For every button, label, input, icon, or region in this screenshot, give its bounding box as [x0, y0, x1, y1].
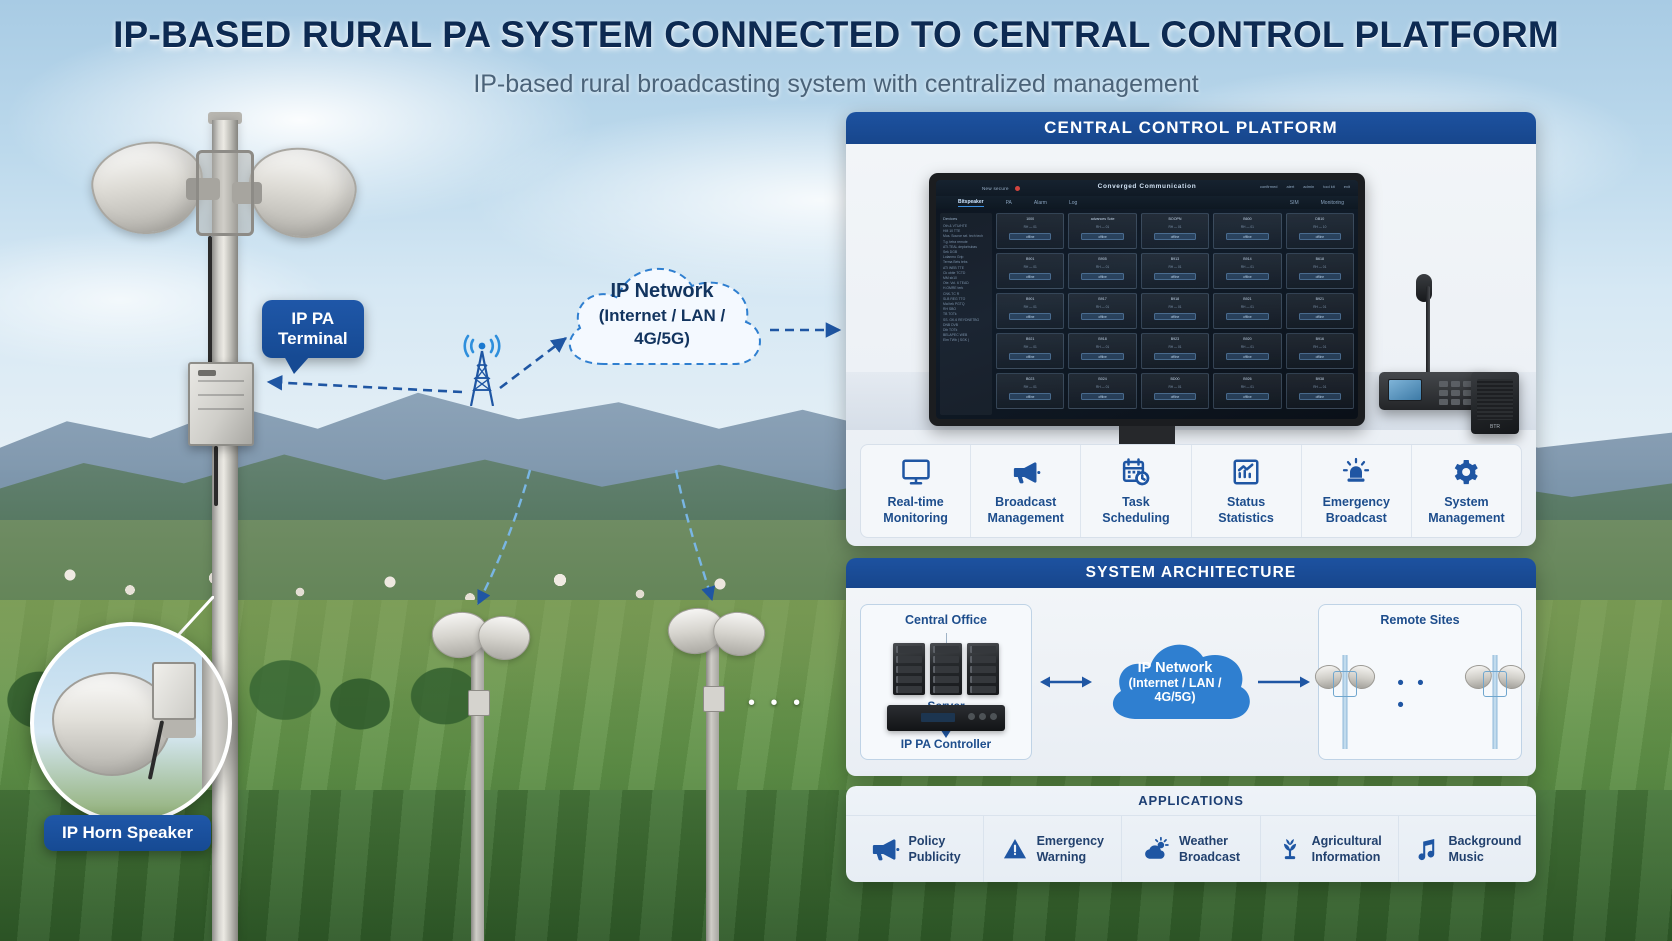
- server-unit-3: [967, 643, 999, 695]
- device-id: B023: [1000, 377, 1060, 381]
- device-offline-button[interactable]: offline: [1009, 273, 1051, 280]
- device-card[interactable]: B921 RH — 01 offline: [1286, 293, 1354, 329]
- warning-icon: [1002, 836, 1028, 862]
- tab-alarm[interactable]: Alarm: [1034, 200, 1047, 206]
- screen-status-4[interactable]: exit: [1344, 184, 1350, 189]
- arrow-cloud-to-remote: [1258, 672, 1310, 692]
- device-grid[interactable]: 1000 RH — 01 offlineadvances Sote RH — 0…: [996, 213, 1354, 415]
- device-id: B905: [1072, 257, 1132, 261]
- application-label: Policy Publicity: [909, 833, 961, 866]
- central-office-title: Central Office: [861, 613, 1031, 627]
- page-title: IP-BASED RURAL PA SYSTEM CONNECTED TO CE…: [0, 14, 1672, 56]
- applications-body: APPLICATIONS Policy Publicity Emergency …: [846, 786, 1536, 882]
- gear-icon: [1451, 455, 1481, 489]
- feature-label: Emergency Broadcast: [1323, 495, 1390, 526]
- device-id: B923: [1145, 337, 1205, 341]
- device-offline-button[interactable]: offline: [1299, 353, 1341, 360]
- device-card[interactable]: B600 RH — 01 offline: [1213, 213, 1281, 249]
- screen-status-0[interactable]: confirmed: [1260, 184, 1278, 189]
- device-id: B918: [1072, 337, 1132, 341]
- server-unit-2: [930, 643, 962, 695]
- device-status: RH — 01: [1072, 225, 1132, 229]
- device-offline-button[interactable]: offline: [1009, 393, 1051, 400]
- device-card[interactable]: B916 RH — 01 offline: [1286, 333, 1354, 369]
- device-status: RH — 01: [1290, 265, 1350, 269]
- device-card[interactable]: B938 RH — 01 offline: [1286, 373, 1354, 409]
- arrow-office-to-cloud: [1040, 672, 1092, 692]
- remote-sites-ellipsis: • • •: [1397, 673, 1443, 717]
- device-status: RH — 01: [1217, 225, 1277, 229]
- server-unit-1: [893, 643, 925, 695]
- application-label: Background Music: [1448, 833, 1521, 866]
- device-card[interactable]: advances Sote RH — 01 offline: [1068, 213, 1136, 249]
- device-id: B917: [1072, 297, 1132, 301]
- remote-site-pole-2: [1469, 641, 1521, 749]
- sa-ip-network-cloud: IP Network (Internet / LAN / 4G/5G): [1100, 627, 1250, 737]
- megaphone-icon: [869, 834, 900, 865]
- tab-sim[interactable]: SIM: [1290, 200, 1299, 206]
- weather-icon: [1142, 835, 1170, 863]
- feature-label: Real-time Monitoring: [883, 495, 948, 526]
- device-list-item[interactable]: Elm TWb ( SGK ): [943, 338, 989, 343]
- screen-topbar: New secure Converged Communication confi…: [936, 180, 1358, 196]
- sidebar-title: Devices: [943, 216, 989, 221]
- device-offline-button[interactable]: offline: [1009, 233, 1051, 240]
- megaphone-icon: [1010, 455, 1041, 489]
- callout-terminal-line1: IP PA: [278, 309, 348, 329]
- device-id: B024: [1072, 377, 1132, 381]
- device-status: RH — 01: [1072, 345, 1132, 349]
- device-status: RH — 01: [1217, 345, 1277, 349]
- platform-feature-strip: Real-time Monitoring Broadcast Managemen…: [860, 444, 1522, 538]
- device-id: BOOPN: [1145, 217, 1205, 221]
- plant-icon: [1277, 836, 1303, 862]
- device-offline-button[interactable]: offline: [1226, 233, 1268, 240]
- device-card[interactable]: B921 RH — 01 offline: [1213, 293, 1281, 329]
- application-emergency[interactable]: Emergency Warning: [984, 816, 1122, 882]
- applications-title: APPLICATIONS: [846, 786, 1536, 816]
- device-status: RH — 01: [1000, 265, 1060, 269]
- application-background[interactable]: Background Music: [1399, 816, 1536, 882]
- application-label: Agricultural Information: [1312, 833, 1382, 866]
- device-card[interactable]: B926 RH — 01 offline: [1213, 373, 1281, 409]
- device-offline-button[interactable]: offline: [1299, 233, 1341, 240]
- sa-body: Central Office Server IP PA Controller: [846, 588, 1536, 776]
- feature-label: Task Scheduling: [1102, 495, 1169, 526]
- device-id: B921: [1217, 297, 1277, 301]
- device-card[interactable]: B905 RH — 01 offline: [1068, 253, 1136, 289]
- device-card[interactable]: B024 RH — 01 offline: [1068, 373, 1136, 409]
- feature-emergency[interactable]: Emergency Broadcast: [1302, 445, 1412, 537]
- device-offline-button[interactable]: offline: [1226, 313, 1268, 320]
- device-status: RH — 01: [1217, 305, 1277, 309]
- screen-status-group: confirmed alert admin tool kit exit: [1260, 184, 1350, 189]
- tab-pa[interactable]: PA: [1006, 200, 1012, 206]
- device-id: B921: [1290, 297, 1350, 301]
- device-offline-button[interactable]: offline: [1299, 273, 1341, 280]
- device-list-item[interactable]: Mus. Source sel. tech tech: [943, 234, 989, 239]
- device-status: RH — 01: [1072, 305, 1132, 309]
- device-card[interactable]: B917 RH — 01 offline: [1068, 293, 1136, 329]
- device-status: RH — 10: [1290, 225, 1350, 229]
- sa-cloud-line-2: (Internet / LAN /: [1128, 676, 1221, 690]
- device-id: BD00: [1145, 377, 1205, 381]
- device-id: B916: [1290, 337, 1350, 341]
- application-weather[interactable]: Weather Broadcast: [1122, 816, 1260, 882]
- remote-sites-group: Remote Sites • • •: [1318, 604, 1522, 760]
- device-id: B913: [1145, 257, 1205, 261]
- remote-horn-2b: [711, 609, 767, 658]
- cabinet-cable-upper: [208, 236, 212, 364]
- cloud-line-1: IP Network: [611, 280, 714, 303]
- device-offline-button[interactable]: offline: [1081, 273, 1123, 280]
- device-offline-button[interactable]: offline: [1299, 393, 1341, 400]
- screen-main: Devices Oth & VTU/HTEHM 10 TTEMus. Sourc…: [936, 209, 1358, 419]
- device-offline-button[interactable]: offline: [1226, 273, 1268, 280]
- device-card[interactable]: B901 RH — 01 offline: [996, 293, 1064, 329]
- device-id: B926: [1217, 377, 1277, 381]
- remote-terminal-2: [703, 686, 725, 712]
- device-status: RH — 01: [1000, 345, 1060, 349]
- device-card[interactable]: BD00 RH — 01 offline: [1141, 373, 1209, 409]
- device-id: B901: [1000, 257, 1060, 261]
- device-id: B914: [1217, 257, 1277, 261]
- device-status: RH — 01: [1145, 385, 1205, 389]
- device-status: RH — 01: [1217, 265, 1277, 269]
- device-status: RH — 01: [1145, 225, 1205, 229]
- callout-terminal-line2: Terminal: [278, 329, 348, 349]
- ccp-body: New secure Converged Communication confi…: [846, 144, 1536, 546]
- ip-pa-controller-unit: [887, 705, 1005, 731]
- feature-label: System Management: [1428, 495, 1504, 526]
- sa-cloud-line-3: 4G/5G): [1155, 690, 1196, 704]
- siren-icon: [1341, 455, 1371, 489]
- monitor-screen: New secure Converged Communication confi…: [936, 180, 1358, 419]
- device-card[interactable]: B901 RH — 01 offline: [996, 253, 1064, 289]
- central-control-platform-card: CENTRAL CONTROL PLATFORM New secure Conv…: [846, 112, 1536, 546]
- control-monitor: New secure Converged Communication confi…: [929, 173, 1365, 426]
- applications-row: Policy Publicity Emergency Warning Weath…: [846, 816, 1536, 882]
- ip-network-cloud: IP Network (Internet / LAN / 4G/5G): [548, 238, 776, 390]
- device-status: RH — 01: [1072, 385, 1132, 389]
- ccp-title: CENTRAL CONTROL PLATFORM: [846, 112, 1536, 144]
- device-offline-button[interactable]: offline: [1154, 353, 1196, 360]
- tab-log[interactable]: Log: [1069, 200, 1077, 206]
- feature-task[interactable]: Task Scheduling: [1081, 445, 1191, 537]
- device-offline-button[interactable]: offline: [1299, 313, 1341, 320]
- device-status: RH — 01: [1145, 305, 1205, 309]
- desktop-speaker: BTR: [1471, 372, 1519, 434]
- speaker-bracket: [196, 150, 254, 236]
- device-id: 1000: [1000, 217, 1060, 221]
- horn-speaker-magnifier: [30, 622, 232, 824]
- callout-ip-horn-speaker: IP Horn Speaker: [44, 815, 211, 851]
- screen-status-2[interactable]: admin: [1303, 184, 1314, 189]
- device-offline-button[interactable]: offline: [1154, 233, 1196, 240]
- device-card[interactable]: B923 RH — 01 offline: [1141, 333, 1209, 369]
- device-offline-button[interactable]: offline: [1154, 313, 1196, 320]
- device-status: RH — 01: [1000, 385, 1060, 389]
- device-card[interactable]: B920 RH — 01 offline: [1213, 333, 1281, 369]
- application-label: Weather Broadcast: [1179, 833, 1240, 866]
- application-policy[interactable]: Policy Publicity: [846, 816, 984, 882]
- device-id: B618: [1290, 257, 1350, 261]
- device-card[interactable]: 1000 RH — 01 offline: [996, 213, 1064, 249]
- device-status: RH — 01: [1290, 305, 1350, 309]
- device-offline-button[interactable]: offline: [1226, 353, 1268, 360]
- device-id: B901: [1000, 297, 1060, 301]
- cloud-line-3: 4G/5G): [634, 329, 690, 349]
- remote-site-pole-1: [1319, 641, 1371, 749]
- chart-icon: [1231, 455, 1261, 489]
- device-id: advances Sote: [1072, 217, 1132, 221]
- feature-status[interactable]: Status Statistics: [1192, 445, 1302, 537]
- application-agricultural[interactable]: Agricultural Information: [1261, 816, 1399, 882]
- remote-sites-scene: • • •: [1319, 635, 1521, 755]
- device-offline-button[interactable]: offline: [1009, 313, 1051, 320]
- callout-ip-pa-terminal: IP PA Terminal: [262, 300, 364, 358]
- cell-tower-icon: [455, 318, 509, 406]
- device-status: RH — 01: [1000, 305, 1060, 309]
- device-status: RH — 01: [1217, 385, 1277, 389]
- ip-pa-controller-label: IP PA Controller: [861, 737, 1031, 751]
- screen-status-3[interactable]: tool kit: [1323, 184, 1335, 189]
- device-status: RH — 01: [1290, 345, 1350, 349]
- scene-ellipsis: • • •: [748, 692, 805, 715]
- monitor-icon: [901, 455, 931, 489]
- remote-terminal-1: [468, 690, 490, 716]
- feature-label: Status Statistics: [1218, 495, 1274, 526]
- header: IP-BASED RURAL PA SYSTEM CONNECTED TO CE…: [0, 14, 1672, 99]
- device-offline-button[interactable]: offline: [1081, 353, 1123, 360]
- feature-broadcast[interactable]: Broadcast Management: [971, 445, 1081, 537]
- feature-label: Broadcast Management: [988, 495, 1064, 526]
- tab-bitspeaker[interactable]: Bitspeaker: [958, 199, 984, 207]
- device-status: RH — 01: [1000, 225, 1060, 229]
- application-label: Emergency Warning: [1037, 833, 1104, 866]
- remote-sites-title: Remote Sites: [1319, 613, 1521, 627]
- applications-card: APPLICATIONS Policy Publicity Emergency …: [846, 786, 1536, 882]
- screen-tabbar: Bitspeaker PA Alarm Log SIM Monitoring: [936, 196, 1358, 209]
- device-status: RH — 01: [1145, 265, 1205, 269]
- device-id: DB10: [1290, 217, 1350, 221]
- device-offline-button[interactable]: offline: [1081, 233, 1123, 240]
- device-id: B918: [1145, 297, 1205, 301]
- system-architecture-card: SYSTEM ARCHITECTURE Central Office Serve…: [846, 558, 1536, 776]
- page-subtitle: IP-based rural broadcasting system with …: [0, 70, 1672, 99]
- sa-title: SYSTEM ARCHITECTURE: [846, 558, 1536, 588]
- screen-device-sidebar[interactable]: Devices Oth & VTU/HTEHM 10 TTEMus. Sourc…: [940, 213, 992, 415]
- device-status: RH — 01: [1290, 385, 1350, 389]
- device-card[interactable]: B921 RH — 01 offline: [996, 333, 1064, 369]
- device-card[interactable]: B618 RH — 01 offline: [1286, 253, 1354, 289]
- screen-status-1[interactable]: alert: [1287, 184, 1295, 189]
- microphone-gooseneck: [1426, 286, 1430, 376]
- device-card[interactable]: B918 RH — 01 offline: [1141, 293, 1209, 329]
- infographic-canvas: IP-BASED RURAL PA SYSTEM CONNECTED TO CE…: [0, 0, 1672, 941]
- remote-horn-1b: [476, 613, 532, 662]
- central-office-group: Central Office Server IP PA Controller: [860, 604, 1032, 760]
- device-card[interactable]: B914 RH — 01 offline: [1213, 253, 1281, 289]
- secondary-pole-1: [471, 640, 484, 941]
- device-status: RH — 01: [1072, 265, 1132, 269]
- device-offline-button[interactable]: offline: [1081, 393, 1123, 400]
- cloud-line-2: (Internet / LAN /: [599, 306, 726, 326]
- device-id: B921: [1000, 337, 1060, 341]
- device-card[interactable]: DB10 RH — 10 offline: [1286, 213, 1354, 249]
- feature-system[interactable]: System Management: [1412, 445, 1521, 537]
- ip-pa-terminal-cabinet: [188, 362, 254, 446]
- device-offline-button[interactable]: offline: [1081, 313, 1123, 320]
- sa-cloud-line-1: IP Network: [1138, 660, 1213, 676]
- device-id: B920: [1217, 337, 1277, 341]
- device-card[interactable]: B023 RH — 01 offline: [996, 373, 1064, 409]
- feature-real-time[interactable]: Real-time Monitoring: [861, 445, 971, 537]
- device-offline-button[interactable]: offline: [1226, 393, 1268, 400]
- tab-monitoring[interactable]: Monitoring: [1321, 200, 1344, 206]
- device-id: B600: [1217, 217, 1277, 221]
- device-card[interactable]: BOOPN RH — 01 offline: [1141, 213, 1209, 249]
- calendar-clock-icon: [1121, 455, 1151, 489]
- device-card[interactable]: B913 RH — 01 offline: [1141, 253, 1209, 289]
- device-id: B938: [1290, 377, 1350, 381]
- server-rack-group: [893, 643, 999, 695]
- device-status: RH — 01: [1145, 345, 1205, 349]
- music-note-icon: [1413, 836, 1439, 862]
- device-offline-button[interactable]: offline: [1009, 353, 1051, 360]
- device-offline-button[interactable]: offline: [1154, 393, 1196, 400]
- device-offline-button[interactable]: offline: [1154, 273, 1196, 280]
- device-card[interactable]: B918 RH — 01 offline: [1068, 333, 1136, 369]
- cabinet-cable-lower: [214, 446, 218, 506]
